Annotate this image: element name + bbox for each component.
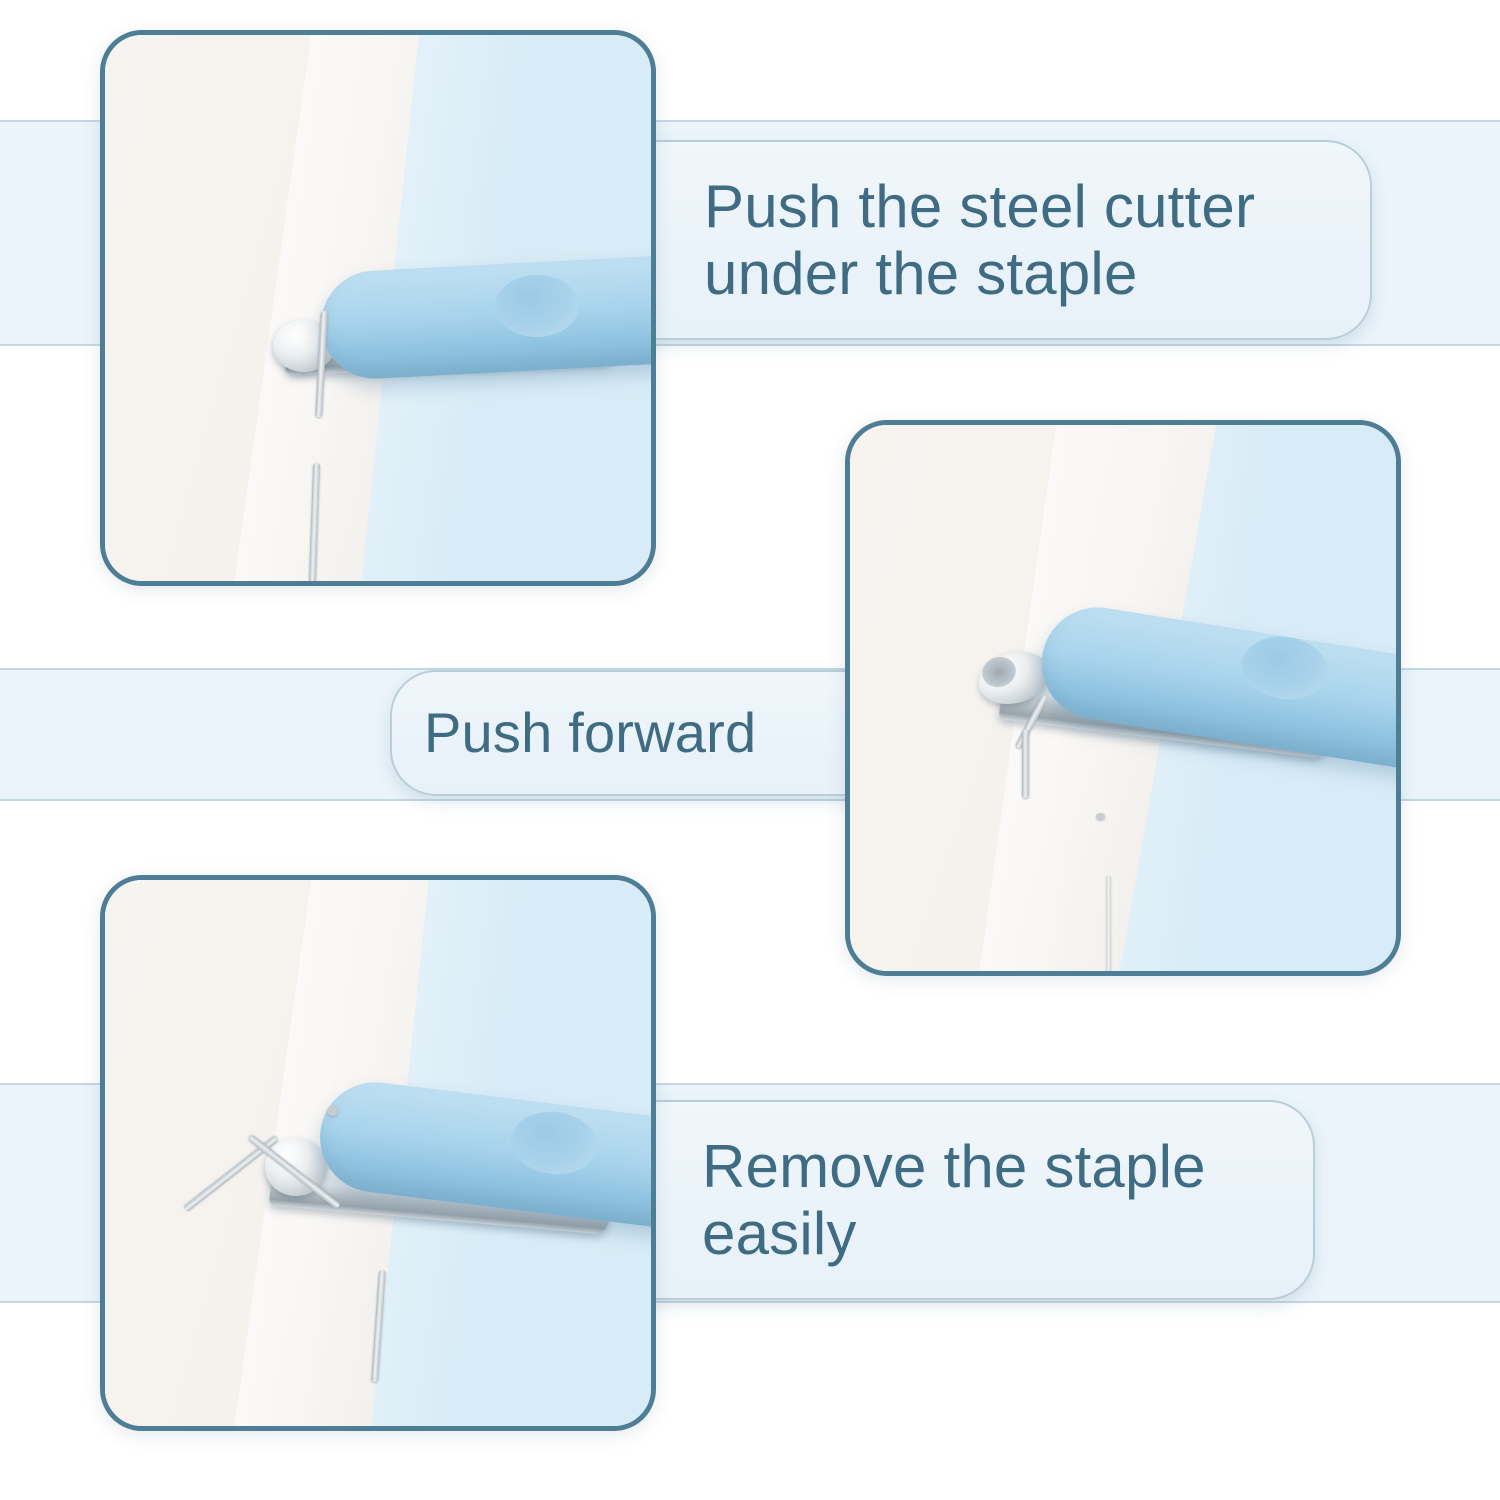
step-3-photo [105, 880, 651, 1426]
step-1-photo-panel [100, 30, 656, 586]
paper-speck [327, 1106, 338, 1116]
step-2-caption-text: Push forward [392, 702, 756, 765]
step-1-caption-text: Push the steel cutter under the staple [554, 173, 1255, 307]
handle-thumb-dimple [495, 275, 579, 337]
staple-loose [1106, 875, 1111, 971]
step-1-photo [105, 35, 651, 581]
step-3-caption-text: Remove the staple easily [562, 1133, 1206, 1267]
staple-leg-bent [1022, 730, 1029, 798]
infographic-canvas: Push the steel cutter under the staple P… [0, 0, 1500, 1500]
tool-handle [318, 253, 651, 382]
step-1-caption-bubble: Push the steel cutter under the staple [552, 140, 1372, 340]
step-3-caption-bubble: Remove the staple easily [560, 1100, 1315, 1300]
step-3-photo-panel [100, 875, 656, 1431]
paper-speck [1096, 813, 1105, 820]
step-2-photo [850, 425, 1396, 971]
step-2-photo-panel [845, 420, 1401, 976]
